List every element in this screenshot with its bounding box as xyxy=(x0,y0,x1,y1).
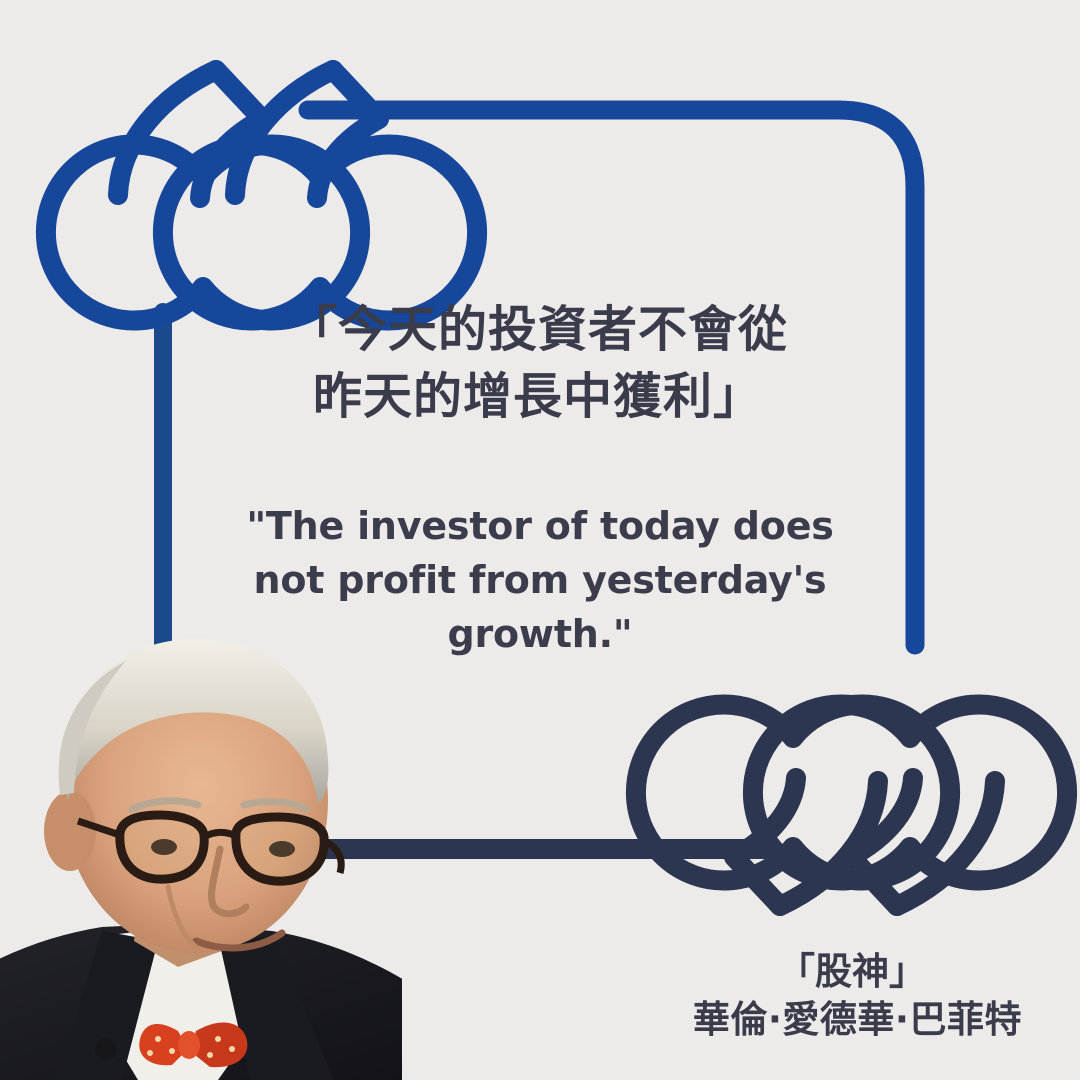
quote-card: 「今天的投資者不會從 昨天的增長中獲利」 "The investor of to… xyxy=(0,0,1080,1080)
lapel-microphone xyxy=(95,1038,117,1060)
chinese-quote: 「今天的投資者不會從 昨天的增長中獲利」 xyxy=(258,296,818,430)
english-quote-line-2: not profit from yesterday's xyxy=(240,554,840,608)
english-quote: "The investor of today does not profit f… xyxy=(240,500,840,662)
left-eye xyxy=(151,839,177,855)
chinese-quote-line-1: 「今天的投資者不會從 xyxy=(258,296,818,363)
attribution-name: 華倫·愛德華·巴菲特 xyxy=(693,996,1022,1044)
attribution-title: 「股神」 xyxy=(693,948,926,996)
english-quote-line-1: "The investor of today does xyxy=(240,500,840,554)
left-ear xyxy=(44,791,96,871)
english-quote-line-3: growth." xyxy=(240,608,840,662)
open-double-quote-icon xyxy=(46,70,477,321)
chinese-quote-line-2: 昨天的增長中獲利」 xyxy=(258,363,818,430)
frame-right-vertical-line xyxy=(838,110,915,645)
right-eye xyxy=(269,841,295,857)
warren-buffett-portrait xyxy=(0,635,402,1080)
attribution: 「股神」 華倫·愛德華·巴菲特 xyxy=(693,948,1022,1044)
close-double-quote-icon xyxy=(636,705,1067,907)
